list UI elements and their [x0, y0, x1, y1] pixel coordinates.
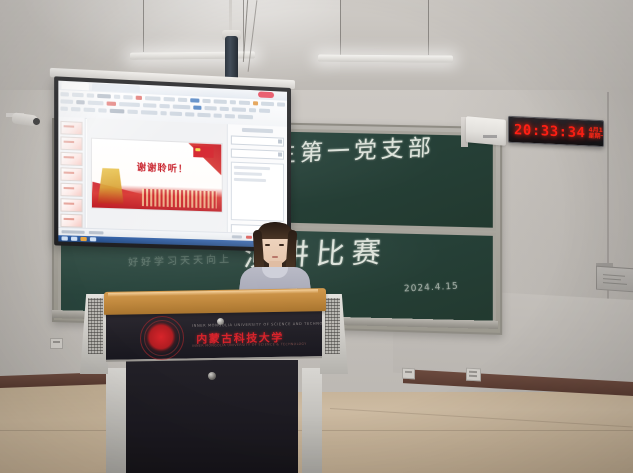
eye: [265, 244, 270, 246]
ppt-save-button[interactable]: [258, 91, 274, 98]
slide-thumbnail[interactable]: [60, 183, 82, 197]
podium-screw: [208, 372, 216, 380]
podium-leg: [106, 368, 126, 473]
wall-speaker: [466, 116, 506, 145]
wall-outlet[interactable]: [466, 368, 481, 382]
settings-dropdown[interactable]: [231, 135, 284, 146]
settings-dropdown[interactable]: [231, 149, 284, 160]
podium-leg: [302, 368, 322, 473]
current-slide[interactable]: 谢谢聆听！: [91, 138, 222, 212]
podium-speaker-grill: [325, 298, 340, 354]
slide-thumbnail[interactable]: [60, 214, 82, 228]
mouth: [272, 256, 278, 258]
podium-speaker-grill: [88, 298, 103, 354]
ceiling-light-fixture: [318, 55, 453, 63]
settings-list-box[interactable]: [231, 162, 284, 222]
clock-weekday-line: 星期一: [588, 133, 604, 140]
lecture-podium: INNER MONGOLIA UNIVERSITY OF SCIENCE AND…: [80, 290, 348, 473]
ppt-slide-thumbnail-panel[interactable]: [58, 117, 85, 228]
monument-graphic: [98, 168, 124, 204]
light-hanger: [428, 0, 429, 55]
slide-thumbnail[interactable]: [60, 152, 82, 166]
wall-plaque: [596, 266, 633, 293]
wall-outlet[interactable]: [402, 368, 415, 380]
clock-time-display: 20:33:34: [514, 123, 585, 140]
classroom-scene: 学生第一党支部 演讲比赛 2024.4.15 好好学习天天向上 20:33:34…: [0, 0, 633, 473]
wall-speaker-label: [483, 135, 497, 138]
eye: [279, 244, 284, 246]
start-button-icon[interactable]: [62, 236, 68, 240]
light-hanger: [143, 0, 144, 52]
china-flag-icon: [193, 146, 213, 158]
slide-thumbnail[interactable]: [60, 198, 82, 212]
clock-aux-display: 4月15日 星期一: [588, 127, 604, 140]
settings-pane-header: [242, 128, 274, 133]
crowd-graphic: [142, 188, 216, 208]
ppt-tab-home[interactable]: [62, 82, 89, 91]
podium-lower-panel: [126, 360, 298, 473]
wall-outlet[interactable]: [50, 338, 63, 349]
led-wall-clock: 20:33:34 4月15日 星期一: [508, 116, 604, 147]
slide-title-text: 谢谢聆听！: [137, 160, 188, 175]
taskbar-app-icon[interactable]: [90, 237, 96, 241]
ppt-slide-stage[interactable]: 谢谢聆听！: [87, 118, 227, 232]
slide-thumbnail[interactable]: [60, 121, 82, 135]
slide-thumbnail[interactable]: [60, 136, 82, 150]
taskbar-app-icon[interactable]: [80, 237, 86, 241]
slide-thumbnail[interactable]: [60, 167, 82, 181]
taskbar-app-icon[interactable]: [71, 237, 77, 241]
light-hanger: [340, 0, 341, 55]
